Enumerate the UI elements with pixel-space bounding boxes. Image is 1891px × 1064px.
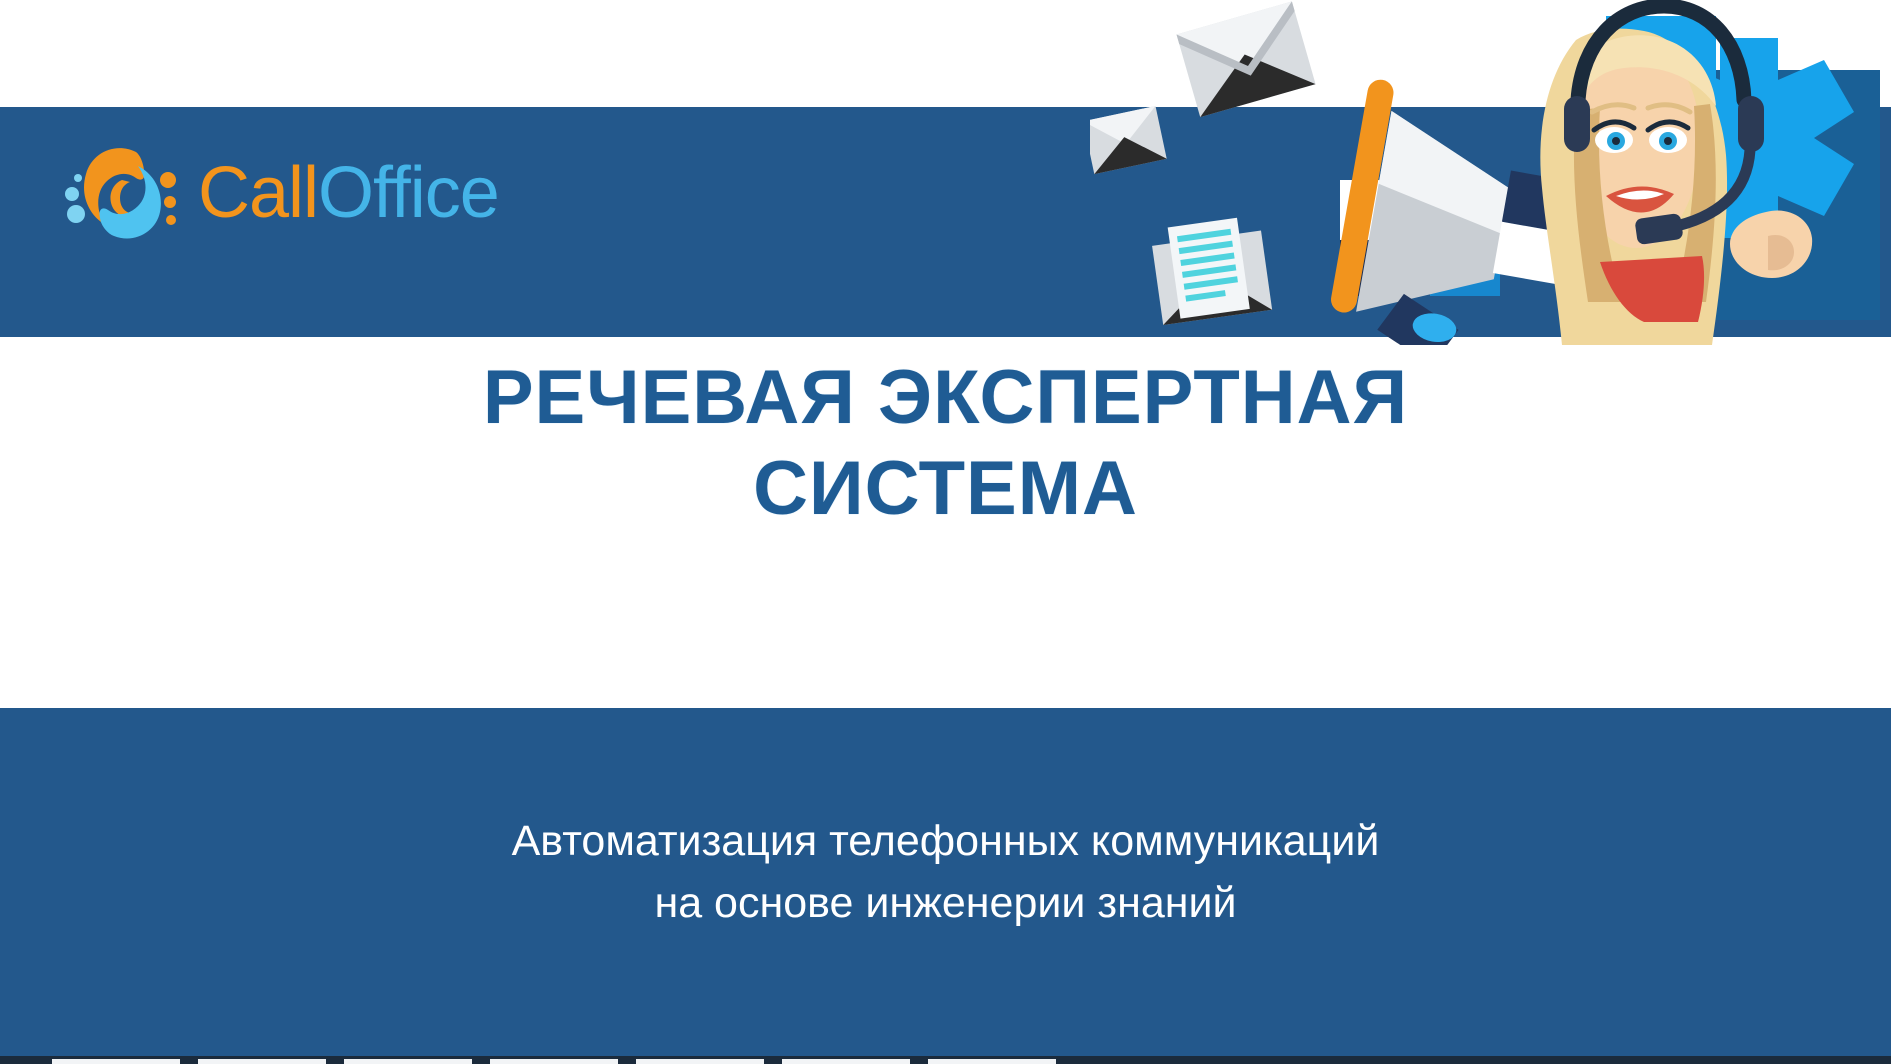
logo-word-call: Call bbox=[198, 153, 318, 233]
thumbnail-item bbox=[52, 1059, 180, 1064]
title-line-1: РЕЧЕВАЯ ЭКСПЕРТНАЯ bbox=[0, 352, 1891, 443]
calloffice-wordmark: CallOffice bbox=[198, 157, 499, 229]
logo-word-office: Office bbox=[318, 153, 499, 233]
subtitle-line-2: на основе инженерии знаний bbox=[0, 872, 1891, 934]
envelope-icon-large bbox=[1177, 1, 1316, 117]
presentation-slide: CallOffice РЕЧЕВАЯ ЭКСПЕРТНАЯ СИСТЕМА Ав… bbox=[0, 0, 1891, 1064]
title-line-2: СИСТЕМА bbox=[0, 443, 1891, 534]
calloffice-logo[interactable]: CallOffice bbox=[62, 128, 622, 258]
page-subtitle: Автоматизация телефонных коммуникаций на… bbox=[0, 810, 1891, 935]
page-title: РЕЧЕВАЯ ЭКСПЕРТНАЯ СИСТЕМА bbox=[0, 352, 1891, 534]
thumbnail-item bbox=[782, 1059, 910, 1064]
thumbnail-item bbox=[928, 1059, 1056, 1064]
calloffice-swirl-logo bbox=[62, 138, 182, 248]
subtitle-line-1: Автоматизация телефонных коммуникаций bbox=[0, 810, 1891, 872]
thumbnail-item bbox=[490, 1059, 618, 1064]
thumbnail-item bbox=[198, 1059, 326, 1064]
cropped-thumbnail-strip bbox=[0, 1056, 1891, 1064]
thumbnail-item bbox=[344, 1059, 472, 1064]
thumbnail-item bbox=[636, 1059, 764, 1064]
